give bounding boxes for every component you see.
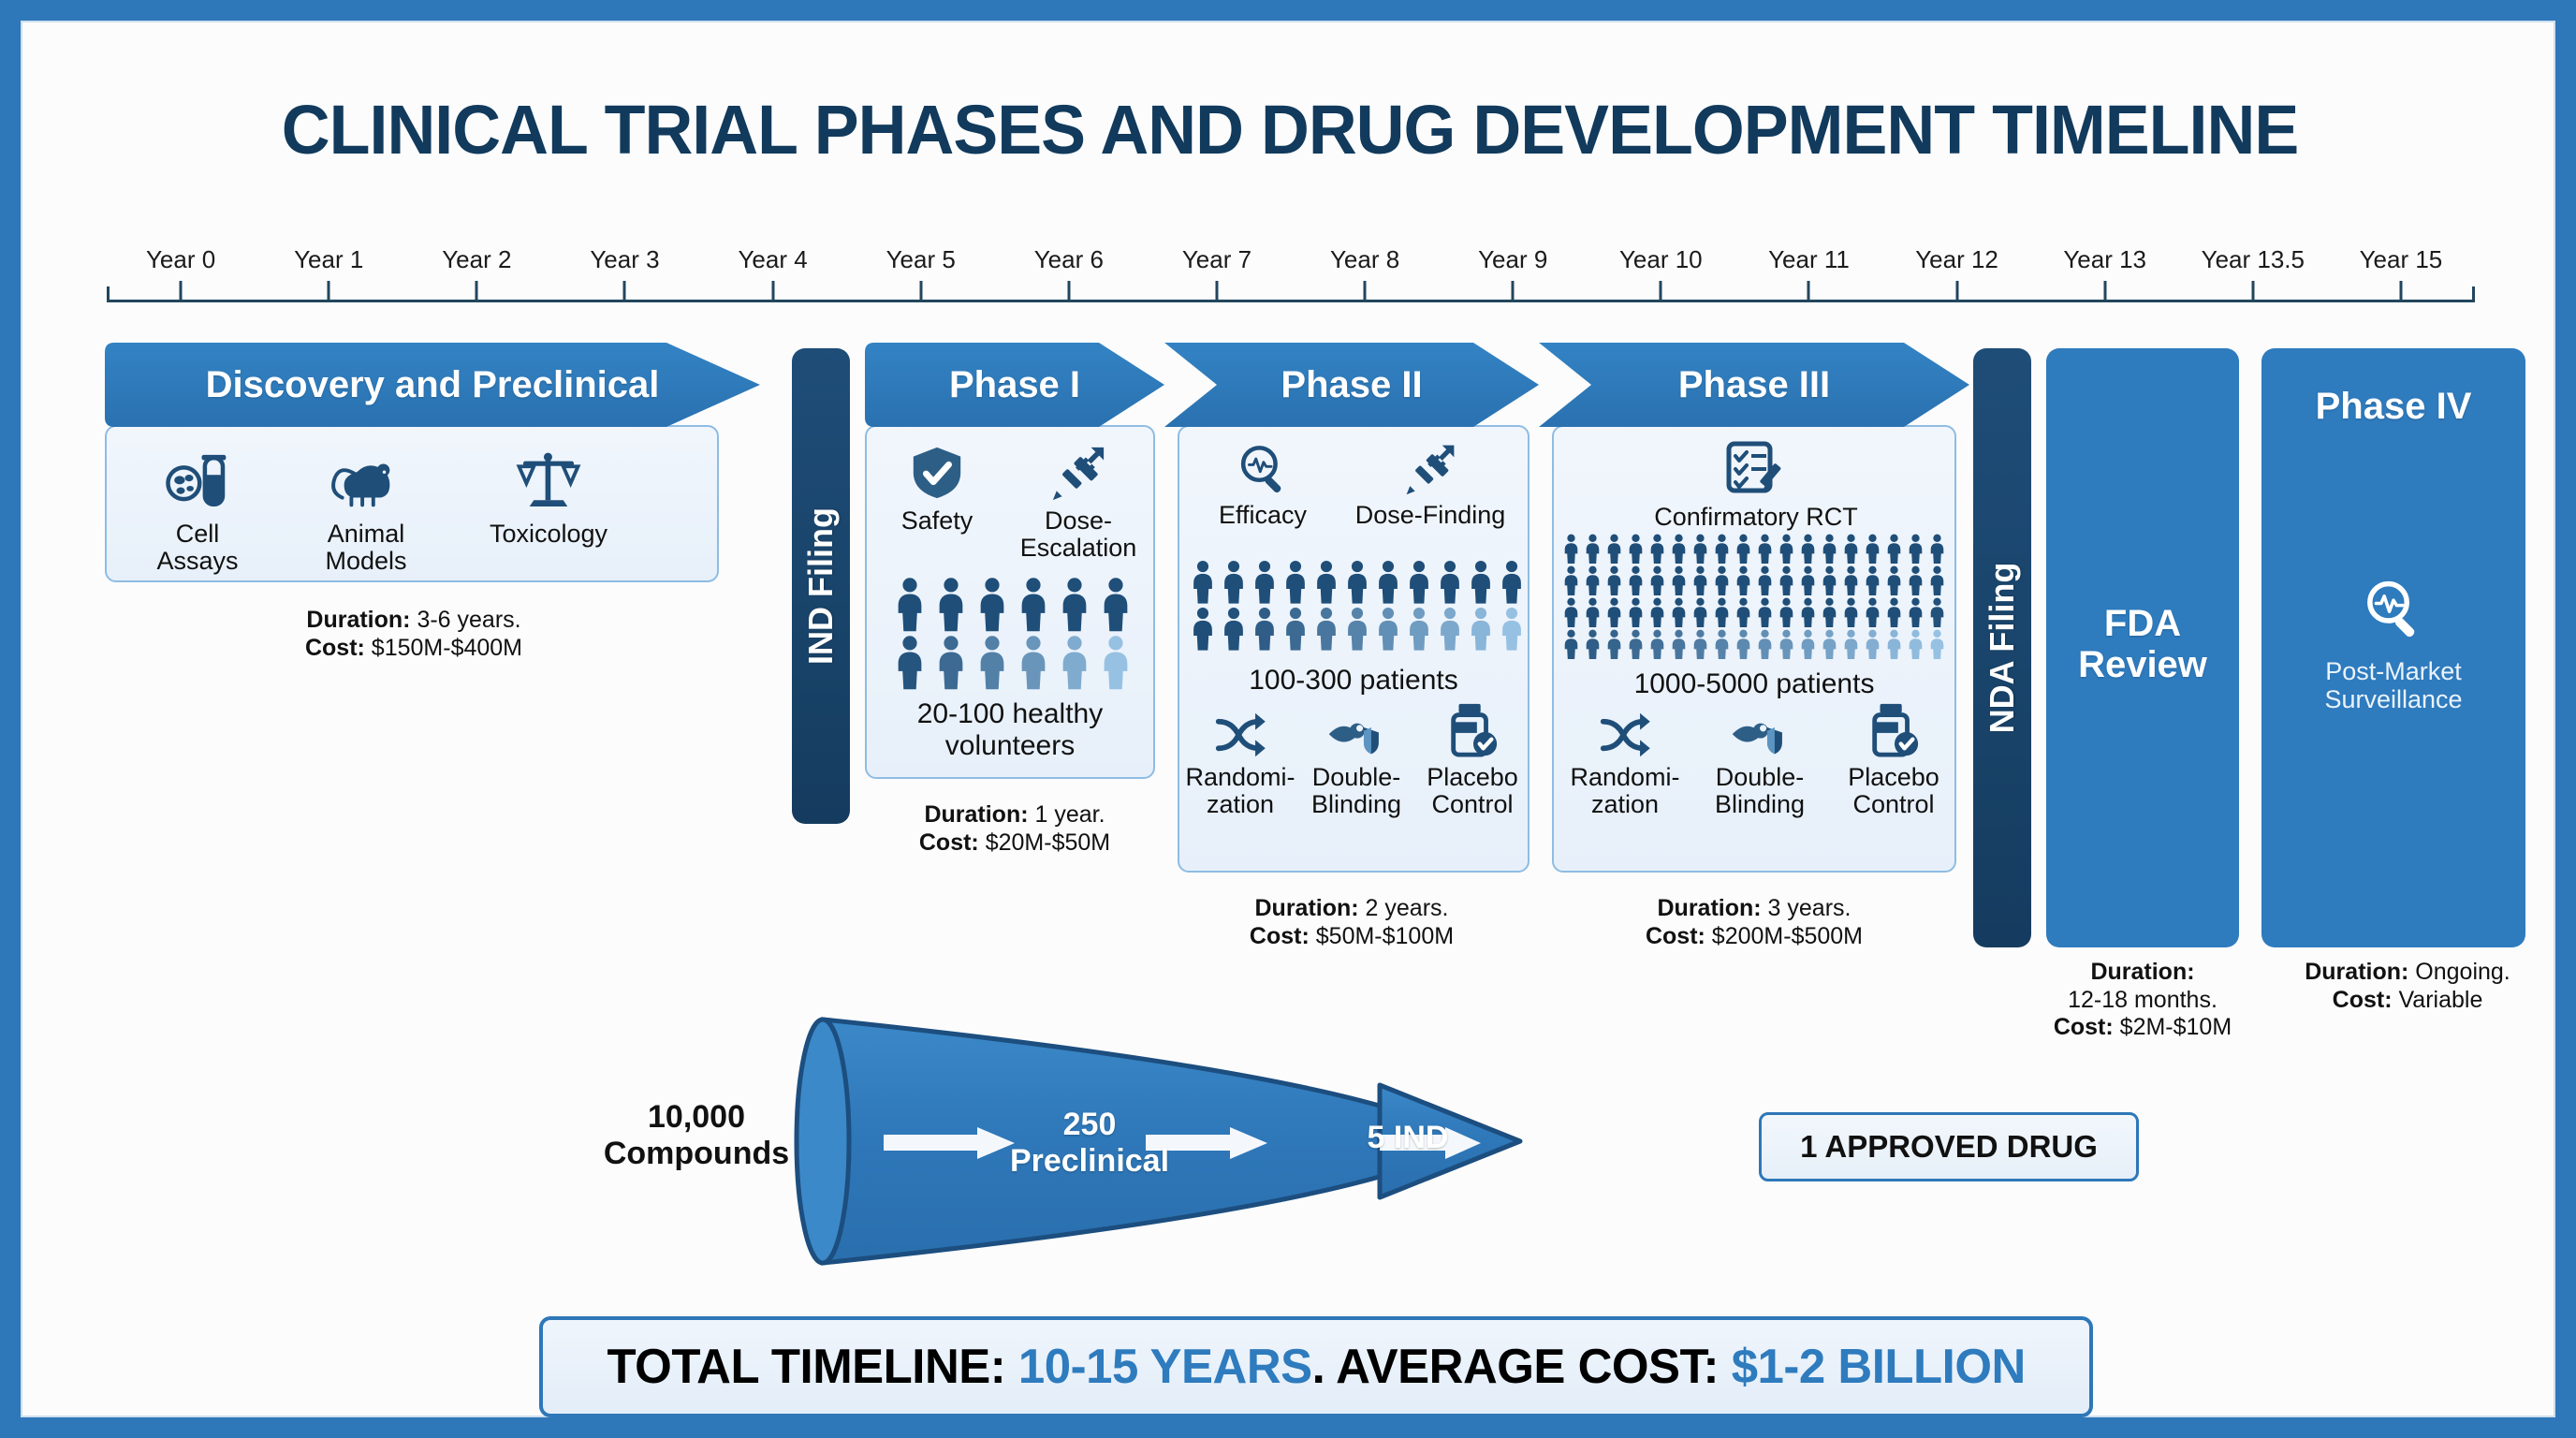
syringe-up-icon [1401, 442, 1459, 496]
person-icon [1669, 629, 1689, 660]
timeline-year-label: Year 6 [1034, 245, 1104, 274]
person-icon [891, 635, 929, 691]
person-icon [1712, 597, 1732, 628]
timeline-year-label: Year 3 [590, 245, 659, 274]
magnifier-pulse-icon [1234, 442, 1292, 496]
person-icon [1669, 597, 1689, 628]
person-icon [1690, 597, 1710, 628]
timeline-tick [1067, 281, 1070, 301]
person-icon [1777, 629, 1796, 660]
person-icon [1647, 629, 1667, 660]
phase-4-panel[interactable]: Phase IV Post-MarketSurveillance [2261, 348, 2525, 947]
person-icon [1436, 607, 1464, 652]
timeline-tick [1512, 281, 1515, 301]
icon-cell-double-blinding-p2: Double-Blinding [1299, 712, 1413, 818]
person-icon [1690, 629, 1710, 660]
icon-cell-dose-escalation: Dose-Escalation [1003, 444, 1153, 562]
person-icon [973, 635, 1011, 691]
cost-label: Cost: [1250, 923, 1310, 949]
person-icon [1405, 560, 1433, 605]
person-icon [1863, 629, 1882, 660]
person-icon [1841, 597, 1861, 628]
total-banner: TOTAL TIMELINE: 10-15 YEARS. AVERAGE COS… [539, 1316, 2093, 1417]
person-icon [1841, 629, 1861, 660]
infographic-canvas: CLINICAL TRIAL PHASES AND DRUG DEVELOPME… [21, 21, 2555, 1417]
person-icon [1690, 565, 1710, 596]
person-icon [1626, 534, 1646, 565]
stage-phase-2-header: Phase II [1164, 343, 1539, 427]
duration-value: 3 years. [1762, 895, 1851, 921]
person-icon [1798, 629, 1818, 660]
people-row [891, 635, 1134, 691]
stage-discovery-body: CellAssays AnimalModels [105, 425, 719, 582]
person-icon [1884, 629, 1904, 660]
person-icon [1884, 597, 1904, 628]
stage-phase-3-cost: Duration: 3 years. Cost: $200M-$500M [1558, 895, 1951, 950]
icon-cell-efficacy: Efficacy [1193, 442, 1333, 529]
person-icon [1798, 565, 1818, 596]
person-icon [1220, 560, 1248, 605]
stage-phase-1-header: Phase I [865, 343, 1164, 427]
ind-filing-label: IND Filing [801, 507, 841, 665]
person-icon [1626, 597, 1646, 628]
icon-cell-safety: Safety [876, 444, 998, 535]
person-icon [1189, 560, 1217, 605]
person-icon [1884, 565, 1904, 596]
cell-assay-icon [164, 448, 231, 515]
stage-discovery-title: Discovery and Preclinical [206, 364, 660, 406]
people-row [891, 577, 1134, 633]
cost-value: $20M-$50M [979, 829, 1110, 856]
person-icon [1015, 635, 1052, 691]
person-icon [1056, 635, 1093, 691]
cost-value: $200M-$500M [1705, 923, 1863, 949]
stage-discovery-cost: Duration: 3-6 years. Cost: $150M-$400M [217, 607, 610, 662]
person-icon [1863, 597, 1882, 628]
people-row [1189, 607, 1526, 652]
person-icon [1755, 565, 1775, 596]
duration-value: 12-18 months. [2068, 987, 2217, 1013]
stage-phase-2-cost: Duration: 2 years. Cost: $50M-$100M [1164, 895, 1539, 950]
person-icon [1467, 607, 1495, 652]
person-icon [1734, 597, 1753, 628]
timeline-year-label: Year 11 [1768, 245, 1850, 274]
person-icon [1626, 565, 1646, 596]
person-icon [1498, 560, 1526, 605]
people-grid-phase-1 [891, 577, 1134, 691]
person-icon [1626, 629, 1646, 660]
person-icon [1841, 565, 1861, 596]
person-icon [1583, 565, 1603, 596]
person-icon [1604, 534, 1624, 565]
timeline-tick [2251, 281, 2254, 301]
timeline-tick [1215, 281, 1218, 301]
duration-value: 3-6 years. [411, 607, 521, 633]
person-icon [1561, 565, 1581, 596]
timeline-tick [919, 281, 922, 301]
timeline-tick [771, 281, 774, 301]
timeline-axis: Year 0Year 1Year 2Year 3Year 4Year 5Year… [107, 245, 2475, 301]
syringe-up-icon [1048, 444, 1108, 502]
stage-phase-2-title: Phase II [1281, 364, 1422, 406]
eye-shield-icon [1327, 712, 1385, 758]
person-icon [1755, 629, 1775, 660]
person-icon [1647, 565, 1667, 596]
person-icon [1927, 629, 1947, 660]
duration-value: 2 years. [1359, 895, 1449, 921]
timeline-year-label: Year 7 [1182, 245, 1251, 274]
person-icon [1189, 607, 1217, 652]
total-years: 10-15 YEARS [1018, 1340, 1312, 1394]
stage-phase-3: Phase III Confirmatory RCT [1539, 343, 1969, 998]
timeline-tick [1660, 281, 1662, 301]
person-icon [1561, 597, 1581, 628]
people-row [1561, 629, 1947, 660]
person-icon [1798, 534, 1818, 565]
page-title: CLINICAL TRIAL PHASES AND DRUG DEVELOPME… [61, 90, 2520, 169]
person-icon [1712, 534, 1732, 565]
person-icon [1561, 629, 1581, 660]
icon-cell-placebo-control-p3: PlaceboControl [1829, 702, 1958, 818]
person-icon [1097, 577, 1134, 633]
people-label-phase-3: 1000-5000 patients [1554, 668, 1954, 700]
stage-phase-1-body: Safety Dose-Escalation [865, 425, 1155, 779]
people-grid-phase-2 [1189, 560, 1526, 652]
timeline-tick [623, 281, 626, 301]
duration-value: Ongoing. [2408, 959, 2510, 985]
icon-cell-double-blinding-p3: Double-Blinding [1694, 712, 1825, 818]
ind-filing-bar[interactable]: IND Filing [792, 348, 850, 824]
total-prefix: TOTAL TIMELINE: [607, 1340, 1017, 1394]
shuffle-icon [1598, 712, 1652, 758]
person-icon [1734, 565, 1753, 596]
fda-review-title: FDAReview [2046, 603, 2239, 685]
cost-value: $150M-$400M [365, 635, 522, 661]
person-icon [1906, 565, 1925, 596]
person-icon [1777, 534, 1796, 565]
axis-cap-right [2472, 286, 2475, 302]
person-icon [1841, 534, 1861, 565]
person-icon [1583, 534, 1603, 565]
person-icon [1467, 560, 1495, 605]
icon-label: Dose-Escalation [1003, 507, 1153, 562]
clipboard-check-pencil-icon [1725, 440, 1787, 498]
icon-label: Randomi-zation [1559, 764, 1690, 818]
timeline-tick [328, 281, 330, 301]
funnel-output-badge: 1 APPROVED DRUG [1759, 1112, 2139, 1181]
duration-label: Duration: [1658, 895, 1762, 921]
timeline-tick [180, 281, 183, 301]
phase-4-cost: Duration: Ongoing. Cost: Variable [2267, 959, 2548, 1014]
timeline-tick [2399, 281, 2402, 301]
person-icon [1583, 597, 1603, 628]
person-icon [1690, 534, 1710, 565]
person-icon [973, 577, 1011, 633]
icon-label: Efficacy [1193, 502, 1333, 529]
person-icon [1647, 597, 1667, 628]
timeline-tick [1364, 281, 1367, 301]
stage-phase-4-title: Phase IV [2261, 386, 2525, 427]
people-label-phase-2: 100-300 patients [1179, 665, 1528, 697]
person-icon [1312, 560, 1340, 605]
timeline-year-label: Year 10 [1619, 245, 1703, 274]
timeline-year-label: Year 4 [738, 245, 807, 274]
icon-label: PlaceboControl [1829, 764, 1958, 818]
timeline-tick [476, 281, 478, 301]
stage-discovery: Discovery and Preclinical CellAssays [105, 343, 760, 624]
person-icon [1251, 560, 1279, 605]
timeline-tick [1955, 281, 1958, 301]
timeline-year-label: Year 13 [2063, 245, 2146, 274]
icon-label: Randomi-zation [1183, 764, 1297, 818]
phase-4-icon-label: Post-MarketSurveillance [2261, 657, 2525, 713]
icon-cell-cell-assays: CellAssays [127, 448, 268, 575]
duration-label: Duration: [924, 801, 1028, 828]
people-grid-phase-3 [1561, 534, 1947, 660]
shuffle-icon [1213, 712, 1267, 758]
cost-label: Cost: [305, 635, 365, 661]
person-icon [1927, 534, 1947, 565]
person-icon [1604, 597, 1624, 628]
timeline-year-label: Year 12 [1915, 245, 1998, 274]
icon-label: Toxicology [455, 521, 642, 548]
icon-label: PlaceboControl [1415, 764, 1529, 818]
person-icon [1312, 607, 1340, 652]
funnel-250-label: 250Preclinical [977, 1107, 1202, 1180]
person-icon [1734, 534, 1753, 565]
cost-label: Cost: [1646, 923, 1705, 949]
person-icon [1251, 607, 1279, 652]
nda-filing-bar[interactable]: NDA Filing [1973, 348, 2031, 947]
person-icon [1436, 560, 1464, 605]
person-icon [1712, 629, 1732, 660]
timeline-tick [1808, 281, 1810, 301]
timeline-tick [2103, 281, 2106, 301]
person-icon [1906, 534, 1925, 565]
shield-check-icon [908, 444, 966, 502]
person-icon [1604, 629, 1624, 660]
timeline-year-label: Year 1 [294, 245, 363, 274]
person-icon [1343, 560, 1371, 605]
stage-phase-3-body: Confirmatory RCT 1000-5000 patients Rand… [1552, 425, 1956, 873]
person-icon [1561, 534, 1581, 565]
person-icon [1220, 607, 1248, 652]
person-icon [1712, 565, 1732, 596]
people-row [1561, 565, 1947, 596]
cost-label: Cost: [2333, 987, 2393, 1013]
phase-4-icon-wrap [2261, 577, 2525, 647]
total-cost: $1-2 BILLION [1732, 1340, 2026, 1394]
person-icon [1777, 597, 1796, 628]
duration-label: Duration: [306, 607, 410, 633]
person-icon [1755, 534, 1775, 565]
person-icon [1056, 577, 1093, 633]
cost-value: Variable [2393, 987, 2483, 1013]
icon-cell-confirmatory-rct: Confirmatory RCT [1554, 440, 1958, 531]
total-banner-text: TOTAL TIMELINE: 10-15 YEARS. AVERAGE COS… [607, 1339, 2025, 1395]
person-icon [932, 635, 970, 691]
total-middle: . AVERAGE COST: [1312, 1340, 1732, 1394]
person-icon [1604, 565, 1624, 596]
cost-label: Cost: [2054, 1014, 2114, 1040]
person-icon [932, 577, 970, 633]
icon-label: Safety [876, 507, 998, 535]
person-icon [1906, 629, 1925, 660]
funnel-input-label: 10,000Compounds [584, 1099, 809, 1172]
eye-shield-icon [1731, 712, 1789, 758]
magnifier-pulse-icon [2359, 577, 2428, 642]
person-icon [1374, 560, 1402, 605]
person-icon [1669, 565, 1689, 596]
person-icon [1863, 565, 1882, 596]
person-icon [1927, 565, 1947, 596]
pill-bottle-check-icon [1867, 702, 1920, 758]
people-row [1561, 597, 1947, 628]
person-icon [1281, 560, 1310, 605]
person-icon [891, 577, 929, 633]
axis-line [107, 300, 2475, 302]
person-icon [1405, 607, 1433, 652]
person-icon [1343, 607, 1371, 652]
axis-cap-left [107, 286, 110, 302]
stage-phase-3-title: Phase III [1678, 364, 1830, 406]
people-row [1189, 560, 1526, 605]
person-icon [1015, 577, 1052, 633]
person-icon [1755, 597, 1775, 628]
stage-phase-1-cost: Duration: 1 year. Cost: $20M-$50M [827, 801, 1202, 857]
icon-cell-dose-finding: Dose-Finding [1337, 442, 1524, 529]
people-row [1561, 534, 1947, 565]
stage-phase-3-header: Phase III [1539, 343, 1969, 427]
duration-label: Duration: [1255, 895, 1359, 921]
outer-frame: CLINICAL TRIAL PHASES AND DRUG DEVELOPME… [0, 0, 2576, 1438]
icon-label: Double-Blinding [1694, 764, 1825, 818]
person-icon [1374, 607, 1402, 652]
cost-label: Cost: [919, 829, 979, 856]
person-icon [1820, 629, 1839, 660]
duration-value: 1 year. [1029, 801, 1105, 828]
icon-cell-placebo-control-p2: PlaceboControl [1415, 702, 1529, 818]
person-icon [1669, 534, 1689, 565]
stage-phase-2-body: Efficacy Dose-Finding [1178, 425, 1529, 873]
stage-phase-2: Phase II Efficacy [1164, 343, 1539, 998]
stage-phase-1: Phase I Safety [865, 343, 1164, 829]
timeline-year-label: Year 8 [1330, 245, 1399, 274]
people-label-phase-1: 20-100 healthyvolunteers [867, 698, 1153, 761]
icon-cell-animal-models: AnimalModels [286, 448, 446, 575]
pill-bottle-check-icon [1446, 702, 1499, 758]
fda-review-cost: Duration: 12-18 months. Cost: $2M-$10M [2021, 959, 2264, 1042]
person-icon [1927, 597, 1947, 628]
stage-phase-1-title: Phase I [949, 364, 1080, 406]
person-icon [1777, 565, 1796, 596]
icon-cell-randomization-p3: Randomi-zation [1559, 712, 1690, 818]
icon-cell-toxicology: Toxicology [455, 448, 642, 548]
funnel-5ind-label: 5 IND [1324, 1120, 1492, 1156]
icon-label: Double-Blinding [1299, 764, 1413, 818]
icon-label: CellAssays [127, 521, 268, 575]
timeline-year-label: Year 2 [442, 245, 511, 274]
duration-label: Duration: [2090, 959, 2194, 985]
fda-review-panel[interactable]: FDAReview [2046, 348, 2239, 947]
person-icon [1281, 607, 1310, 652]
person-icon [1798, 597, 1818, 628]
person-icon [1647, 534, 1667, 565]
icon-label: Dose-Finding [1337, 502, 1524, 529]
timeline-year-label: Year 5 [886, 245, 956, 274]
nda-filing-label: NDA Filing [1983, 563, 2022, 734]
stage-discovery-header: Discovery and Preclinical [105, 343, 760, 427]
person-icon [1884, 534, 1904, 565]
person-icon [1734, 629, 1753, 660]
person-icon [1820, 565, 1839, 596]
person-icon [1097, 635, 1134, 691]
icon-label: AnimalModels [286, 521, 446, 575]
cost-value: $2M-$10M [2114, 1014, 2232, 1040]
cost-value: $50M-$100M [1310, 923, 1454, 949]
scales-icon [514, 448, 583, 515]
person-icon [1820, 534, 1839, 565]
timeline-year-label: Year 15 [2360, 245, 2443, 274]
person-icon [1820, 597, 1839, 628]
mouse-icon [329, 448, 402, 515]
timeline-year-label: Year 13.5 [2202, 245, 2305, 274]
duration-label: Duration: [2305, 959, 2408, 985]
icon-cell-randomization-p2: Randomi-zation [1183, 712, 1297, 818]
person-icon [1906, 597, 1925, 628]
icon-label: Confirmatory RCT [1554, 504, 1958, 531]
timeline-year-label: Year 9 [1478, 245, 1547, 274]
timeline-year-label: Year 0 [146, 245, 215, 274]
person-icon [1583, 629, 1603, 660]
person-icon [1863, 534, 1882, 565]
person-icon [1498, 607, 1526, 652]
